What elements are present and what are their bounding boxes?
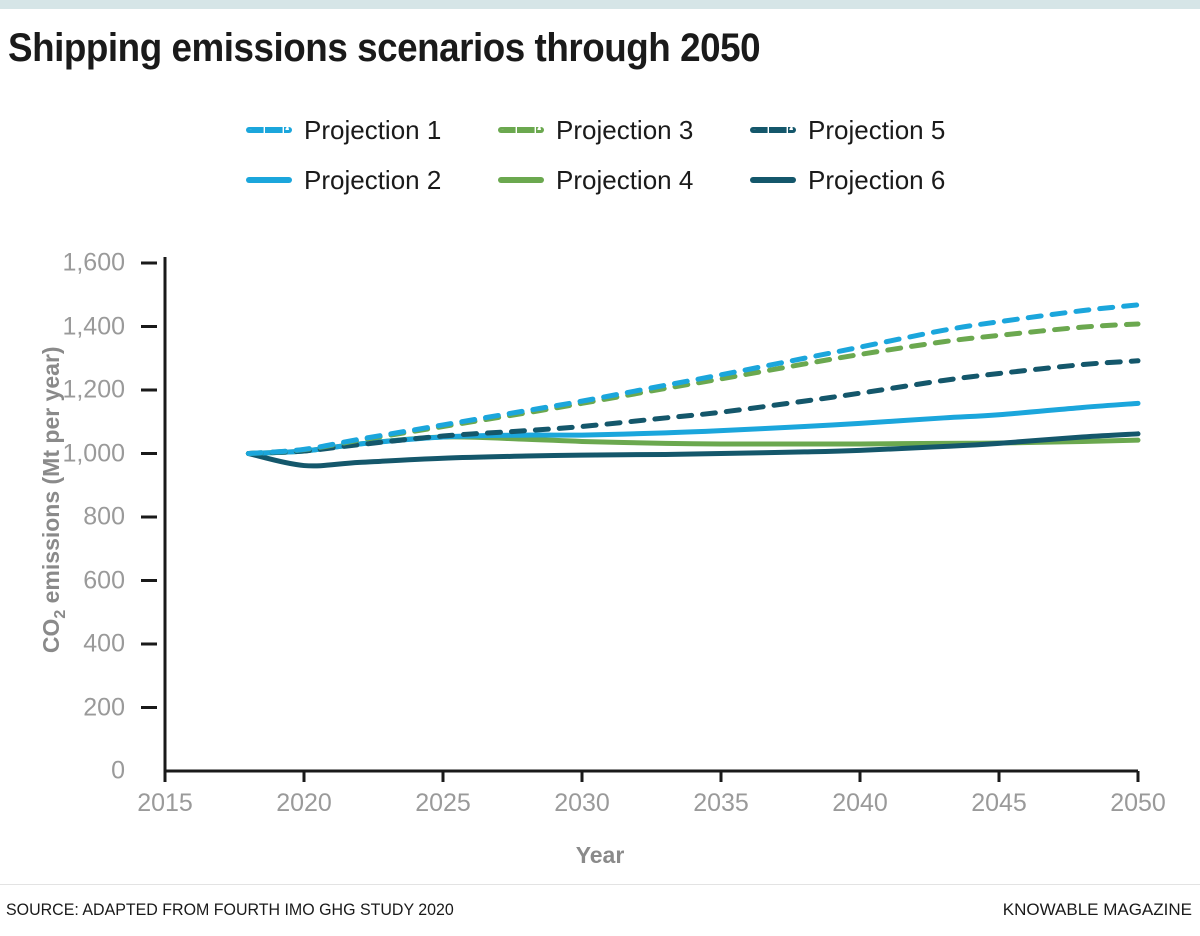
- legend-item-label: Projection 2: [304, 165, 441, 196]
- legend-item-projection-1[interactable]: Projection 1: [246, 115, 498, 146]
- legend-item-projection-4[interactable]: Projection 4: [498, 165, 750, 196]
- legend-item-projection-5[interactable]: Projection 5: [750, 115, 986, 146]
- top-accent-band: [0, 0, 1200, 9]
- chart-legend: Projection 1Projection 3Projection 5Proj…: [246, 105, 986, 205]
- legend-swatch-icon: [750, 127, 796, 133]
- source-note: SOURCE: ADAPTED FROM FOURTH IMO GHG STUD…: [6, 900, 454, 920]
- plot-svg: [0, 230, 1200, 870]
- chart-figure: Shipping emissions scenarios through 205…: [0, 0, 1200, 936]
- chart-title: Shipping emissions scenarios through 205…: [8, 26, 1020, 71]
- legend-item-label: Projection 5: [808, 115, 945, 146]
- series-line-projection-6: [248, 434, 1138, 466]
- footer-divider: [0, 884, 1200, 885]
- legend-item-label: Projection 3: [556, 115, 693, 146]
- legend-item-label: Projection 1: [304, 115, 441, 146]
- legend-item-projection-3[interactable]: Projection 3: [498, 115, 750, 146]
- legend-item-label: Projection 6: [808, 165, 945, 196]
- legend-item-projection-2[interactable]: Projection 2: [246, 165, 498, 196]
- publisher-credit: KNOWABLE MAGAZINE: [1003, 900, 1192, 920]
- legend-swatch-icon: [750, 177, 796, 183]
- legend-item-label: Projection 4: [556, 165, 693, 196]
- plot-area: CO2 emissions (Mt per year) Year 0200400…: [0, 230, 1200, 870]
- legend-swatch-icon: [498, 177, 544, 183]
- legend-item-projection-6[interactable]: Projection 6: [750, 165, 986, 196]
- legend-swatch-icon: [246, 127, 292, 133]
- legend-swatch-icon: [246, 177, 292, 183]
- legend-swatch-icon: [498, 127, 544, 133]
